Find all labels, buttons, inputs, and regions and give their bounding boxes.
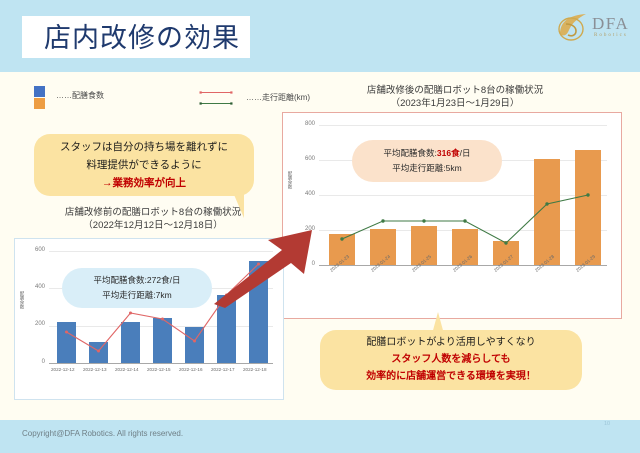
dfa-logo-subtext: Robotics (594, 33, 628, 38)
legend-line-before (194, 91, 238, 94)
chart-legend: ……配膳食数 ……走行距離(km) (34, 84, 314, 114)
chart-before-axis (49, 363, 273, 364)
improvement-arrow-icon (212, 226, 316, 308)
legend-label-distance: ……走行距離(km) (246, 92, 310, 103)
chart-after-ylabel: 配膳食数 (287, 171, 293, 227)
stats-callout-after: 平均配膳食数:316食/日 平均走行距離:5km (352, 140, 502, 182)
chart-title-after: 店舗改修後の配膳ロボット8台の稼働状況 （2023年1月23日～1月29日） (330, 84, 580, 110)
speech-bubble-bottom: 配膳ロボットがより活用しやすくなり スタッフ人数を減らしても 効率的に店舗運営で… (320, 330, 582, 390)
xtick-before: 2022-12-18 (243, 367, 267, 372)
ytick-after: 600 (289, 156, 315, 162)
ytick-before: 600 (21, 247, 45, 253)
stats-after-line1: 平均配膳食数:316食/日 (352, 146, 502, 161)
stats-before-line2: 平均走行距離:7km (62, 288, 212, 303)
ytick-after: 400 (289, 191, 315, 197)
stats-before-line1: 平均配膳食数:272食/日 (62, 273, 212, 288)
stats-callout-before: 平均配膳食数:272食/日 平均走行距離:7km (62, 268, 212, 308)
page-title: 店内改修の効果 (44, 20, 254, 56)
speech-top-line3: →業務効率が向上 (34, 174, 254, 192)
xtick-before: 2022-12-17 (211, 367, 235, 372)
stats-after-value: 316食 (437, 148, 460, 158)
speech-top-line1: スタッフは自分の持ち場を離れずに (34, 138, 254, 156)
slide-canvas: 店内改修の効果 DFA Robotics ……配膳食数 ……走行距離(km) (0, 0, 640, 453)
speech-bottom-line3: 効率的に店舗運営できる環境を実現！ (320, 368, 582, 385)
xtick-before: 2022-12-12 (51, 367, 75, 372)
legend-line-after (194, 102, 238, 105)
speech-bubble-top: スタッフは自分の持ち場を離れずに 料理提供ができるように →業務効率が向上 (34, 134, 254, 196)
chart-title-after-main: 店舗改修後の配膳ロボット8台の稼働状況 (330, 84, 580, 97)
stats-after-suffix: /日 (460, 148, 471, 158)
xtick-before: 2022-12-16 (179, 367, 203, 372)
ytick-before: 400 (21, 284, 45, 290)
chart-title-after-sub: （2023年1月23日～1月29日） (330, 97, 580, 110)
chart-before-ylabel: 配膳食数 (19, 291, 25, 341)
ytick-after: 800 (289, 121, 315, 127)
ytick-before: 200 (21, 321, 45, 327)
speech-bottom-line2: スタッフ人数を減らしても (320, 351, 582, 368)
speech-top-line2: 料理提供ができるように (34, 156, 254, 174)
legend-label-meals: ……配膳食数 (56, 90, 104, 101)
xtick-before: 2022-12-15 (147, 367, 171, 372)
ytick-before: 0 (21, 359, 45, 365)
speech-bottom-line1: 配膳ロボットがより活用しやすくなり (320, 334, 582, 351)
legend-swatch-bar-after (34, 98, 45, 109)
stats-after-prefix: 平均配膳食数: (384, 148, 437, 158)
chart-title-before-main: 店舗改修前の配膳ロボット8台の稼働状況 (48, 206, 258, 219)
dfa-logo-text: DFA (592, 14, 629, 34)
legend-swatch-bar-before (34, 86, 45, 97)
xtick-before: 2022-12-14 (115, 367, 139, 372)
dfa-logo: DFA Robotics (556, 10, 634, 48)
stats-after-line2: 平均走行距離:5km (352, 161, 502, 176)
page-number: 10 (604, 421, 610, 427)
dfa-logo-mark (556, 12, 590, 44)
copyright-text: Copyright@DFA Robotics. All rights reser… (22, 429, 183, 438)
xtick-before: 2022-12-13 (83, 367, 107, 372)
